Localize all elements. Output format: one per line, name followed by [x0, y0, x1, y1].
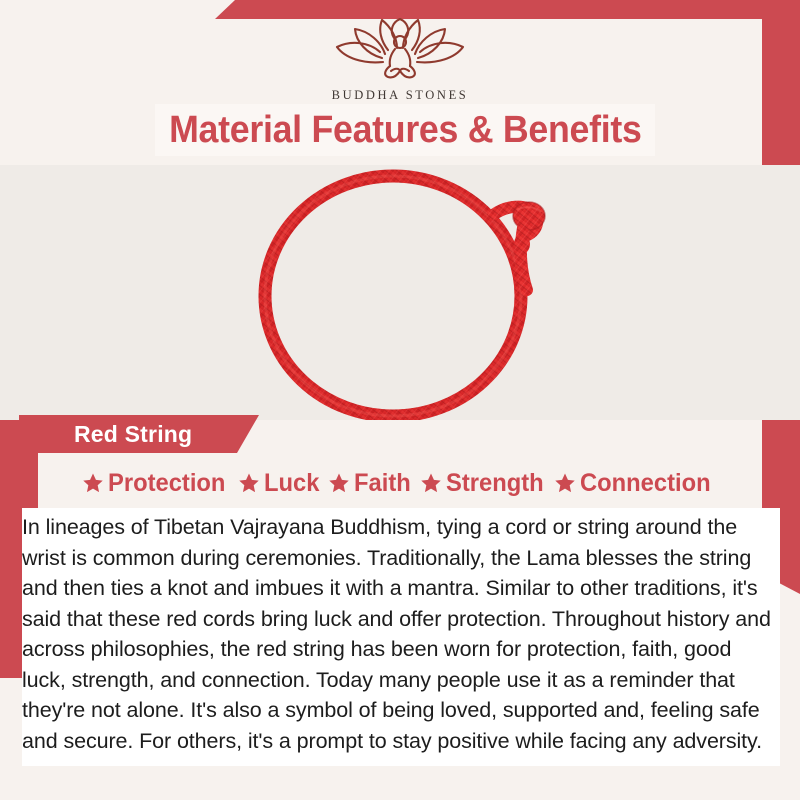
product-image-red-string-bracelet — [207, 165, 597, 420]
benefit-label: Faith — [354, 469, 411, 498]
page-title: Material Features & Benefits — [169, 109, 641, 152]
description-text: In lineages of Tibetan Vajrayana Buddhis… — [22, 512, 780, 756]
benefit-label: Protection — [108, 469, 225, 498]
star-icon — [82, 472, 104, 494]
brand-name: BUDDHA STONES — [332, 88, 469, 103]
benefit-item: Faith — [328, 469, 414, 498]
benefit-label: Strength — [446, 469, 544, 498]
title-plate: Material Features & Benefits — [155, 104, 655, 156]
benefits-list: Protection Luck Faith Strength Connectio — [0, 464, 800, 502]
benefit-item: Protection — [82, 469, 232, 498]
hero-section — [0, 165, 800, 420]
star-icon — [554, 472, 576, 494]
benefit-item: Luck — [238, 469, 322, 498]
benefit-item: Strength — [420, 469, 549, 498]
star-icon — [420, 472, 442, 494]
section-banner: Red String — [19, 415, 259, 453]
benefit-label: Luck — [264, 469, 319, 498]
star-icon — [328, 472, 350, 494]
benefit-label: Connection — [580, 469, 711, 498]
section-banner-label: Red String — [19, 421, 192, 448]
star-icon — [238, 472, 260, 494]
benefit-item: Connection — [554, 469, 718, 498]
bottom-margin — [0, 782, 800, 800]
description-block: In lineages of Tibetan Vajrayana Buddhis… — [22, 508, 780, 766]
infographic-page: BUDDHA STONES Material Features & Benefi… — [0, 0, 800, 800]
lotus-meditation-icon — [325, 16, 475, 84]
brand-logo: BUDDHA STONES — [325, 16, 475, 103]
